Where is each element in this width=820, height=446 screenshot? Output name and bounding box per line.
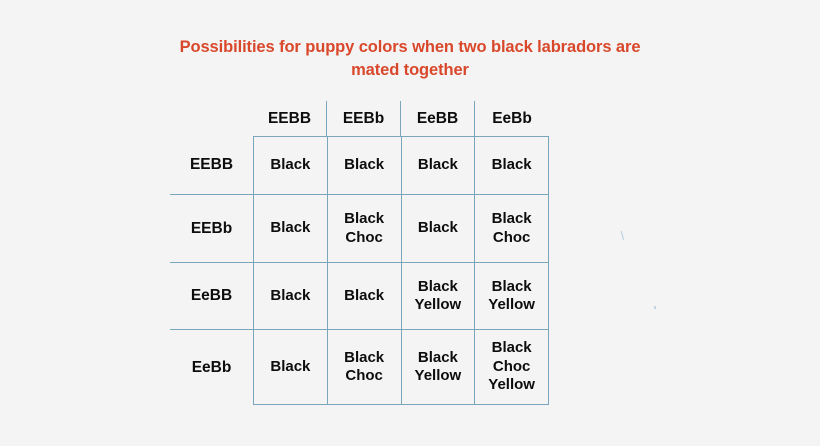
column-header-2: EeBB xyxy=(401,101,475,136)
punnett-grid-row: Black Black Black Yellow Black Yellow xyxy=(254,263,548,330)
punnett-cell-r3c3: Black Choc Yellow xyxy=(475,330,548,404)
trait-label: Black xyxy=(418,156,458,175)
trait-label: Black xyxy=(270,156,310,175)
punnett-column-headers: EEBB EEBb EeBB EeBb xyxy=(253,101,549,136)
punnett-cell-r1c3: Black Choc xyxy=(475,195,548,262)
trait-label: Choc xyxy=(493,358,531,377)
punnett-cell-r2c2: Black Yellow xyxy=(402,263,476,329)
trait-label: Black xyxy=(492,339,532,358)
punnett-cell-r2c3: Black Yellow xyxy=(475,263,548,329)
punnett-cell-r0c1: Black xyxy=(328,137,402,194)
trait-label: Black xyxy=(344,210,384,229)
trait-label: Black xyxy=(492,210,532,229)
punnett-row-headers: EEBB EEBb EeBB EeBb xyxy=(170,136,253,405)
column-header-0: EEBB xyxy=(253,101,327,136)
trait-label: Black xyxy=(344,287,384,306)
punnett-cell-r3c1: Black Choc xyxy=(328,330,402,404)
punnett-cell-r1c1: Black Choc xyxy=(328,195,402,262)
punnett-cell-r1c2: Black xyxy=(402,195,476,262)
punnett-grid-row: Black Black Choc Black Black Choc xyxy=(254,195,548,263)
trait-label: Yellow xyxy=(488,296,535,315)
trait-label: Black xyxy=(492,278,532,297)
column-header-3: EeBb xyxy=(475,101,549,136)
trait-label: Black xyxy=(418,278,458,297)
trait-label: Black xyxy=(344,349,384,368)
trait-label: Black xyxy=(270,219,310,238)
trait-label: Choc xyxy=(345,367,383,386)
column-header-1: EEBb xyxy=(327,101,401,136)
punnett-grid-row: Black Black Choc Black Yellow Black Choc… xyxy=(254,330,548,404)
trait-label: Yellow xyxy=(415,296,462,315)
row-header-1: EEBb xyxy=(170,195,253,263)
trait-label: Black xyxy=(270,287,310,306)
trait-label: Black xyxy=(418,349,458,368)
punnett-cell-r0c3: Black xyxy=(475,137,548,194)
punnett-cell-r0c2: Black xyxy=(402,137,476,194)
punnett-square: EEBB EEBb EeBB EeBb EEBB EEBb EeBB EeBb … xyxy=(0,0,820,446)
trait-label: Black xyxy=(344,156,384,175)
punnett-cell-r3c0: Black xyxy=(254,330,328,404)
trait-label: Black xyxy=(492,156,532,175)
punnett-cell-r2c1: Black xyxy=(328,263,402,329)
punnett-grid-row: Black Black Black Black xyxy=(254,137,548,195)
punnett-cell-r0c0: Black xyxy=(254,137,328,194)
trait-label: Choc xyxy=(493,229,531,248)
punnett-cell-r3c2: Black Yellow xyxy=(402,330,476,404)
punnett-cell-r2c0: Black xyxy=(254,263,328,329)
row-header-0: EEBB xyxy=(170,136,253,195)
trait-label: Choc xyxy=(345,229,383,248)
trait-label: Black xyxy=(270,358,310,377)
punnett-grid: Black Black Black Black Black Black xyxy=(253,136,549,405)
punnett-cell-r1c0: Black xyxy=(254,195,328,262)
trait-label: Black xyxy=(418,219,458,238)
stray-mark-dot xyxy=(654,306,656,309)
row-header-3: EeBb xyxy=(170,330,253,405)
figure-canvas: Possibilities for puppy colors when two … xyxy=(0,0,820,446)
trait-label: Yellow xyxy=(488,376,535,395)
row-header-2: EeBB xyxy=(170,263,253,330)
trait-label: Yellow xyxy=(415,367,462,386)
